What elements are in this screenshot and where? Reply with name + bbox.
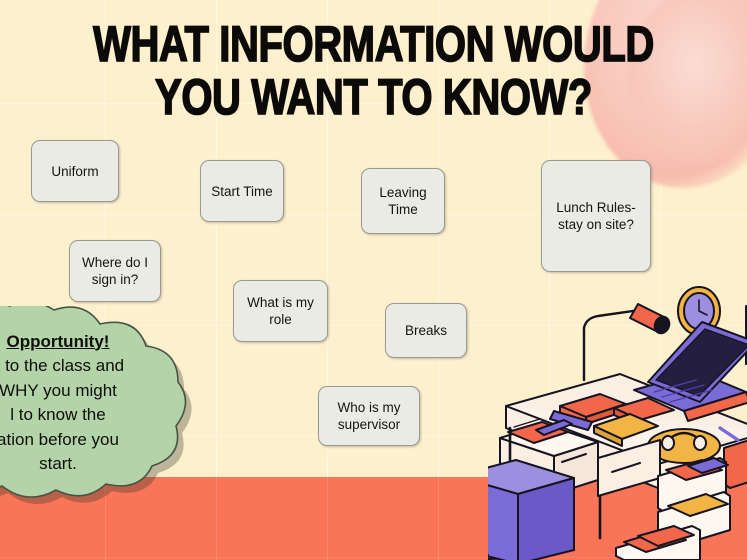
callout-line-2: WHY you might <box>0 379 117 404</box>
sticky-note-start-time[interactable]: Start Time <box>200 160 284 222</box>
callout-line-3: l to know the <box>10 403 105 428</box>
callout-text: Opportunity! k to the class and WHY you … <box>0 306 250 506</box>
talking-opportunity-callout: Opportunity! k to the class and WHY you … <box>0 306 250 506</box>
sticky-note-leaving-time[interactable]: Leaving Time <box>361 168 445 234</box>
callout-line-5: start. <box>39 452 77 477</box>
slide-canvas: What information would you want to know?… <box>0 0 747 560</box>
callout-line-1: k to the class and <box>0 354 124 379</box>
sticky-note-supervisor[interactable]: Who is my supervisor <box>318 386 420 446</box>
sticky-note-breaks[interactable]: Breaks <box>385 303 467 358</box>
sticky-note-uniform[interactable]: Uniform <box>31 140 119 202</box>
callout-line-4: ation before you <box>0 428 119 453</box>
callout-heading: Opportunity! <box>7 330 110 355</box>
page-title: What information would you want to know? <box>75 18 673 124</box>
isometric-desk-illustration <box>488 280 747 560</box>
sticky-note-sign-in[interactable]: Where do I sign in? <box>69 240 161 302</box>
sticky-note-lunch-rules[interactable]: Lunch Rules- stay on site? <box>541 160 651 272</box>
